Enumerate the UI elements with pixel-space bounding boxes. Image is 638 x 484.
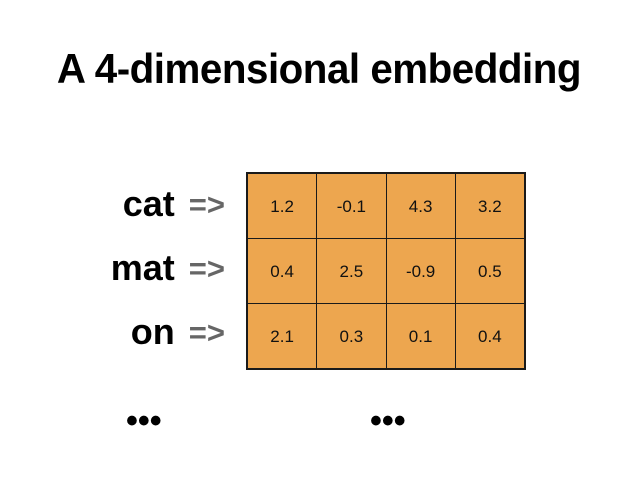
matrix-cell: 2.5 (317, 239, 386, 304)
arrow-icon-on: => (189, 317, 225, 348)
matrix-cell: 0.4 (455, 304, 525, 370)
word-label-column: cat => mat => on => (0, 172, 230, 364)
matrix-cell: -0.9 (386, 239, 455, 304)
matrix-cell: 0.5 (455, 239, 525, 304)
embedding-block: cat => mat => on => 1.2 -0.1 4.3 3.2 (0, 172, 638, 364)
slide-canvas: A 4-dimensional embedding cat => mat => … (0, 0, 638, 484)
ellipsis-matrix: ••• (370, 404, 404, 438)
matrix-cell: 0.3 (317, 304, 386, 370)
arrow-icon-mat: => (189, 253, 225, 284)
arrow-icon-cat: => (189, 189, 225, 220)
table-row: 2.1 0.3 0.1 0.4 (247, 304, 525, 370)
page-title: A 4-dimensional embedding (13, 45, 625, 93)
table-row: 0.4 2.5 -0.9 0.5 (247, 239, 525, 304)
matrix-cell: 0.1 (386, 304, 455, 370)
word-row-on: on => (0, 300, 230, 364)
word-row-mat: mat => (0, 236, 230, 300)
word-row-cat: cat => (0, 172, 230, 236)
matrix-cell: 3.2 (455, 173, 525, 239)
word-label-mat: mat (111, 250, 175, 286)
word-label-cat: cat (123, 186, 175, 222)
matrix-cell: -0.1 (317, 173, 386, 239)
matrix-cell: 2.1 (247, 304, 317, 370)
matrix-cell: 4.3 (386, 173, 455, 239)
matrix-cell: 1.2 (247, 173, 317, 239)
embedding-matrix: 1.2 -0.1 4.3 3.2 0.4 2.5 -0.9 0.5 2.1 0.… (246, 172, 526, 370)
word-label-on: on (131, 314, 175, 350)
matrix-cell: 0.4 (247, 239, 317, 304)
ellipsis-words: ••• (126, 404, 160, 438)
table-row: 1.2 -0.1 4.3 3.2 (247, 173, 525, 239)
